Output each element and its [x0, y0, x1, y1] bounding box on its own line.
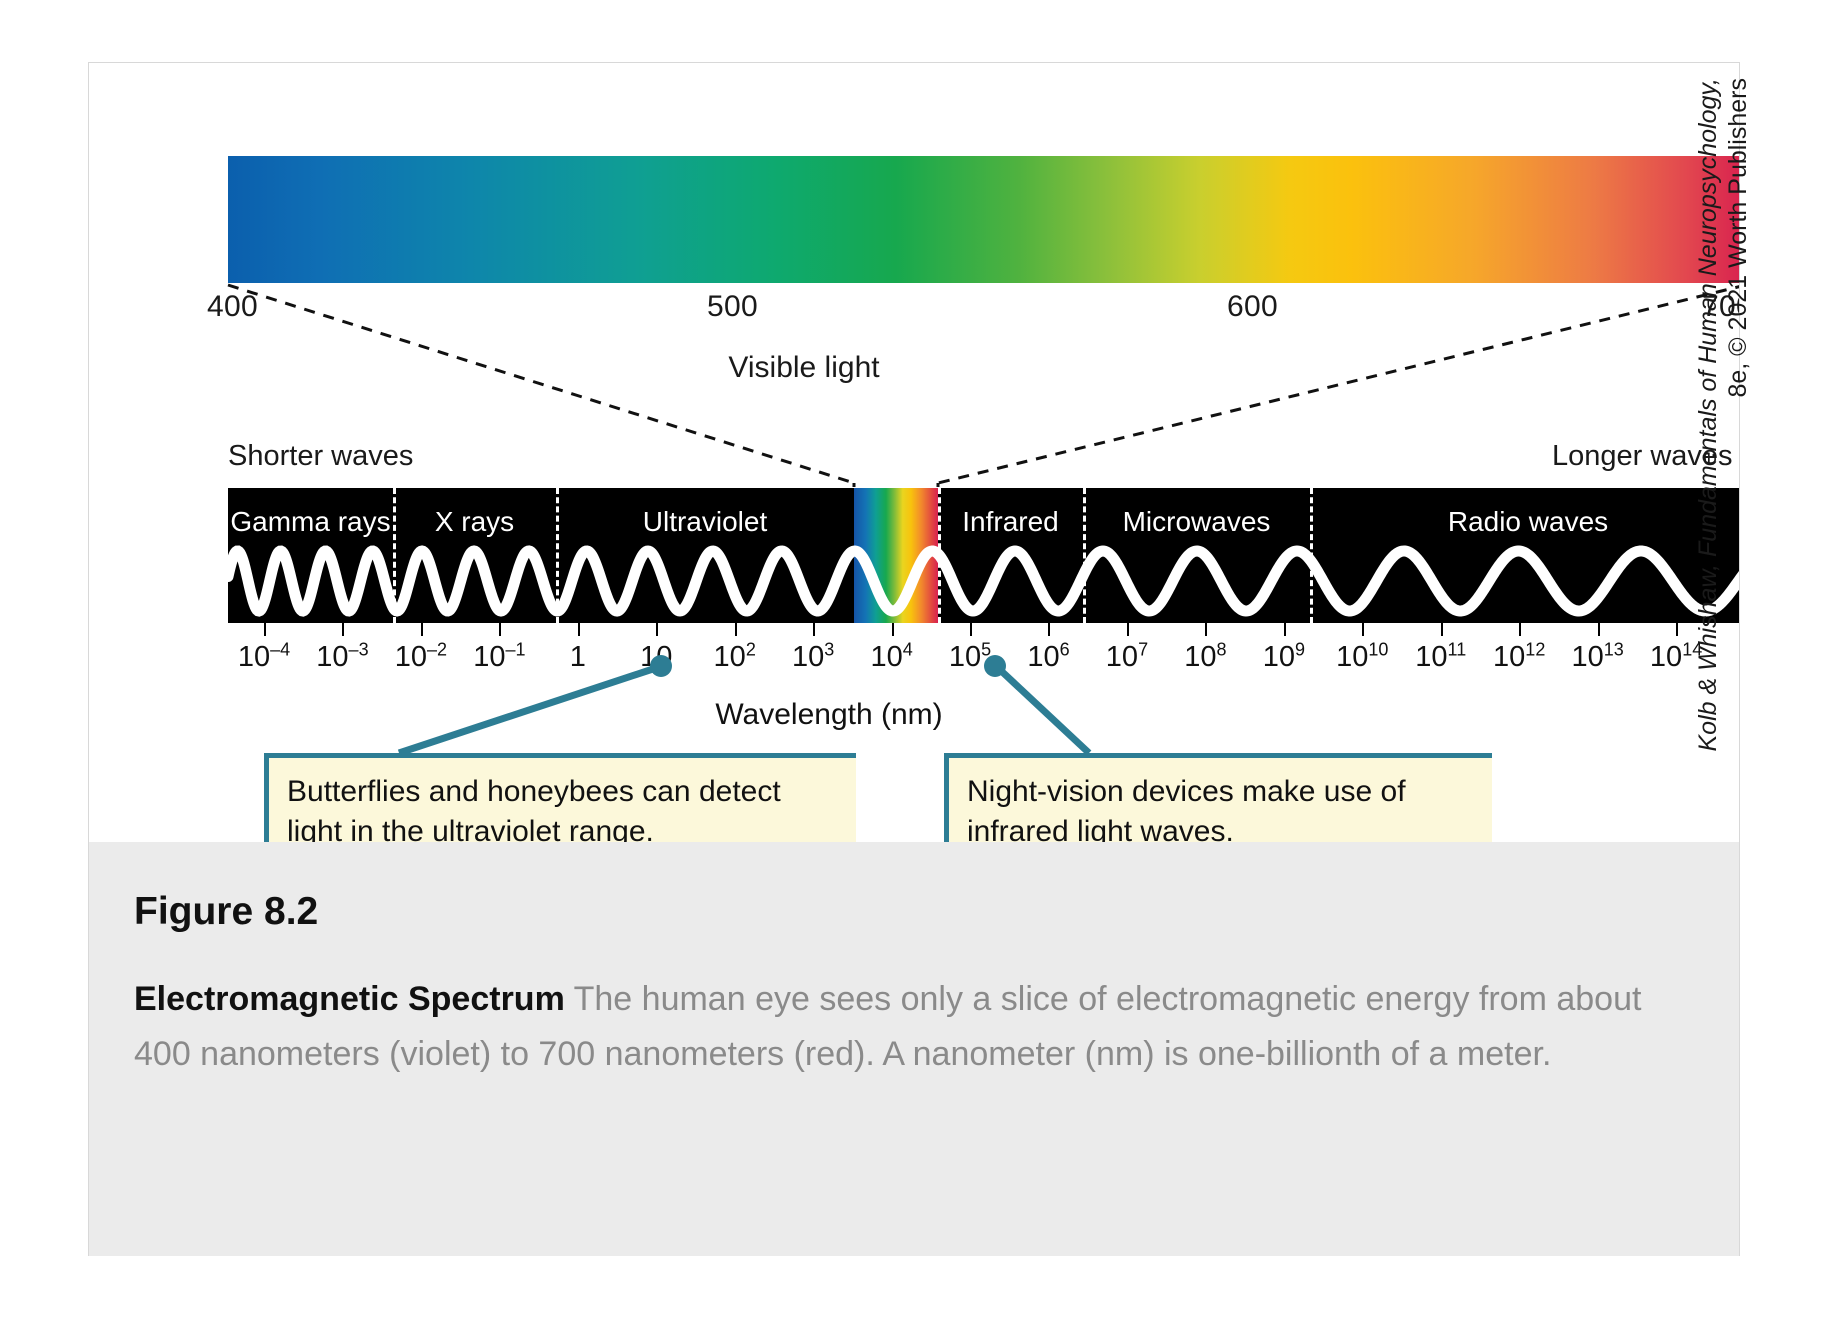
- band-label-infrared: Infrared: [938, 506, 1083, 538]
- figure-number: Figure 8.2: [134, 890, 318, 934]
- wavelength-axis-title: Wavelength (nm): [89, 698, 1739, 732]
- axis-tick-label: 1010: [1336, 641, 1388, 674]
- axis-tick-label: 104: [870, 641, 912, 674]
- axis-tick-label: 10–1: [473, 641, 525, 674]
- axis-tick: [1676, 623, 1678, 636]
- axis-tick: [656, 623, 658, 636]
- axis-tick-label: 10–2: [395, 641, 447, 674]
- axis-tick: [1519, 623, 1521, 636]
- electromagnetic-band: Gamma rays X rays Ultraviolet Infrared M…: [228, 488, 1739, 623]
- axis-tick-label: 108: [1184, 641, 1226, 674]
- axis-tick-label: 1: [570, 641, 586, 674]
- axis-tick-label: 107: [1106, 641, 1148, 674]
- axis-tick: [1362, 623, 1364, 636]
- axis-tick: [421, 623, 423, 636]
- axis-tick: [1048, 623, 1050, 636]
- band-label-ultraviolet: Ultraviolet: [556, 506, 854, 538]
- axis-tick: [1127, 623, 1129, 636]
- axis-tick: [1205, 623, 1207, 636]
- axis-tick: [342, 623, 344, 636]
- callout-infrared-text: Night-vision devices make use of infrare…: [967, 775, 1406, 842]
- wavelength-axis-title-text: Wavelength (nm): [715, 698, 942, 731]
- axis-tick-label: 106: [1027, 641, 1069, 674]
- axis-tick-label: 1011: [1415, 641, 1466, 674]
- figure-page: 400 500 600 700 Visible light Shorter wa…: [0, 0, 1830, 1320]
- visible-light-label: Visible light: [89, 351, 1739, 385]
- caption-title: Electromagnetic Spectrum: [134, 980, 565, 1018]
- axis-tick: [264, 623, 266, 636]
- axis-tick-label: 1012: [1493, 641, 1545, 674]
- axis-tick: [499, 623, 501, 636]
- axis-tick-label: 103: [792, 641, 834, 674]
- visible-light-gradient-bar: [228, 156, 1739, 283]
- axis-tick: [735, 623, 737, 636]
- callout-ultraviolet-text: Butterflies and honeybees can detect lig…: [287, 775, 781, 842]
- callout-ultraviolet: Butterflies and honeybees can detect lig…: [264, 753, 856, 842]
- visible-tick-400: 400: [207, 290, 258, 324]
- band-label-gamma-rays: Gamma rays: [228, 506, 393, 538]
- axis-tick: [1284, 623, 1286, 636]
- axis-tick: [1598, 623, 1600, 636]
- visible-tick-600: 600: [1227, 290, 1278, 324]
- callout-infrared: Night-vision devices make use of infrare…: [944, 753, 1492, 842]
- axis-tick: [813, 623, 815, 636]
- axis-tick: [1441, 623, 1443, 636]
- axis-tick-label: 10: [640, 641, 672, 674]
- wavelength-axis-ticks: [228, 623, 1739, 637]
- artwork-panel: 400 500 600 700 Visible light Shorter wa…: [89, 63, 1739, 842]
- visible-light-label-text: Visible light: [728, 351, 879, 384]
- image-credit: Kolb & Whishaw, Fundamentals of Human Ne…: [1690, 78, 1734, 818]
- band-label-x-rays: X rays: [393, 506, 556, 538]
- axis-tick: [892, 623, 894, 636]
- image-credit-line-2: 8e, © 2021 Worth Publishers: [1720, 78, 1756, 398]
- figure-caption: Electromagnetic Spectrum The human eye s…: [134, 972, 1679, 1082]
- axis-tick-label: 10–3: [316, 641, 368, 674]
- axis-tick-label: 1013: [1571, 641, 1623, 674]
- axis-tick: [578, 623, 580, 636]
- visible-tick-500: 500: [707, 290, 758, 324]
- axis-tick-label: 105: [949, 641, 991, 674]
- axis-tick-label: 10–4: [238, 641, 290, 674]
- band-label-radio-waves: Radio waves: [1310, 506, 1739, 538]
- band-label-microwaves: Microwaves: [1083, 506, 1310, 538]
- axis-tick: [970, 623, 972, 636]
- axis-tick-label: 102: [714, 641, 756, 674]
- caption-area: Figure 8.2 Electromagnetic Spectrum The …: [89, 842, 1739, 1256]
- shorter-waves-label: Shorter waves: [228, 440, 413, 473]
- axis-tick-label: 109: [1263, 641, 1305, 674]
